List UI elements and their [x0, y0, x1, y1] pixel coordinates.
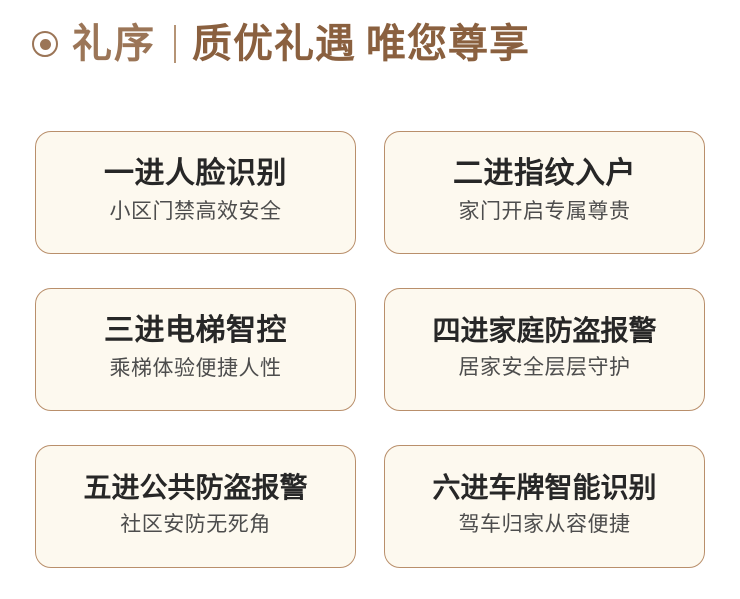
- feature-card-2[interactable]: 二进指纹入户 家门开启专属尊贵: [384, 131, 705, 254]
- bullseye-icon: [32, 31, 58, 57]
- feature-card-3[interactable]: 三进电梯智控 乘梯体验便捷人性: [35, 288, 356, 411]
- feature-card-title: 六进车牌智能识别: [432, 473, 656, 503]
- bullseye-icon-dot: [40, 39, 51, 50]
- tagline-part-2: 唯您尊享: [366, 21, 530, 66]
- feature-card-subtitle: 居家安全层层守护: [459, 356, 631, 379]
- header-divider: [174, 25, 176, 63]
- feature-card-subtitle: 社区安防无死角: [120, 513, 271, 536]
- feature-card-5[interactable]: 五进公共防盗报警 社区安防无死角: [35, 445, 356, 568]
- feature-card-title: 三进电梯智控: [104, 315, 287, 347]
- feature-card-subtitle: 小区门禁高效安全: [110, 200, 282, 223]
- feature-card-subtitle: 驾车归家从容便捷: [459, 513, 631, 536]
- feature-card-title: 二进指纹入户: [453, 158, 636, 190]
- feature-card-subtitle: 乘梯体验便捷人性: [110, 357, 282, 380]
- page-tagline: 质优礼遇唯您尊享: [192, 24, 530, 64]
- feature-card-6[interactable]: 六进车牌智能识别 驾车归家从容便捷: [384, 445, 705, 568]
- feature-card-subtitle: 家门开启专属尊贵: [459, 200, 631, 223]
- feature-card-1[interactable]: 一进人脸识别 小区门禁高效安全: [35, 131, 356, 254]
- feature-card-title: 一进人脸识别: [104, 158, 287, 190]
- page-header: 礼序 质优礼遇唯您尊享: [32, 16, 530, 72]
- feature-card-title: 五进公共防盗报警: [83, 473, 307, 503]
- feature-card-4[interactable]: 四进家庭防盗报警 居家安全层层守护: [384, 288, 705, 411]
- brand-title: 礼序: [72, 24, 156, 64]
- tagline-part-1: 质优礼遇: [192, 21, 356, 66]
- feature-card-title: 四进家庭防盗报警: [432, 316, 656, 346]
- promo-page: 礼序 质优礼遇唯您尊享 一进人脸识别 小区门禁高效安全 二进指纹入户 家门开启专…: [0, 0, 740, 599]
- feature-card-grid: 一进人脸识别 小区门禁高效安全 二进指纹入户 家门开启专属尊贵 三进电梯智控 乘…: [35, 131, 705, 568]
